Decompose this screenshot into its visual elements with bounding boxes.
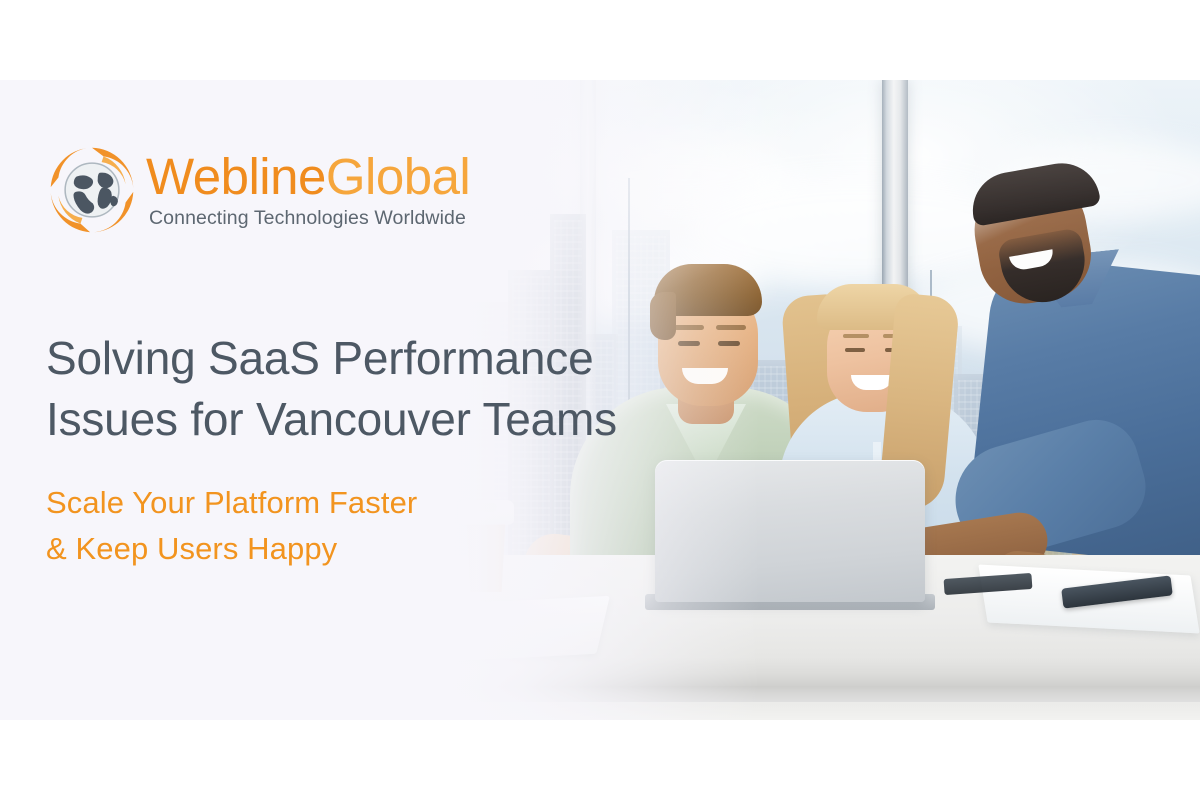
logo[interactable]: WeblineGlobal Connecting Technologies Wo… <box>44 142 470 238</box>
standing-man <box>930 182 1200 602</box>
page-subtitle: Scale Your Platform Faster& Keep Users H… <box>46 480 606 572</box>
logo-tagline: Connecting Technologies Worldwide <box>149 207 470 230</box>
brand-part-1: Webline <box>146 148 326 205</box>
globe-swirl-icon <box>44 142 140 238</box>
subheadline-line-1: Scale Your Platform Faster <box>46 485 417 520</box>
hero-banner: WeblineGlobal Connecting Technologies Wo… <box>0 80 1200 720</box>
headline-line-2: Issues for Vancouver Teams <box>46 389 686 450</box>
hero-content: WeblineGlobal Connecting Technologies Wo… <box>0 80 720 720</box>
headline-line-1: Solving SaaS Performance <box>46 332 594 384</box>
logo-text: WeblineGlobal Connecting Technologies Wo… <box>146 150 470 230</box>
brand-wordmark: WeblineGlobal <box>146 152 470 202</box>
page-stage: WeblineGlobal Connecting Technologies Wo… <box>0 0 1200 800</box>
page-title: Solving SaaS PerformanceIssues for Vanco… <box>46 328 686 449</box>
subheadline-line-2: & Keep Users Happy <box>46 526 606 572</box>
brand-part-2: Global <box>326 148 470 205</box>
